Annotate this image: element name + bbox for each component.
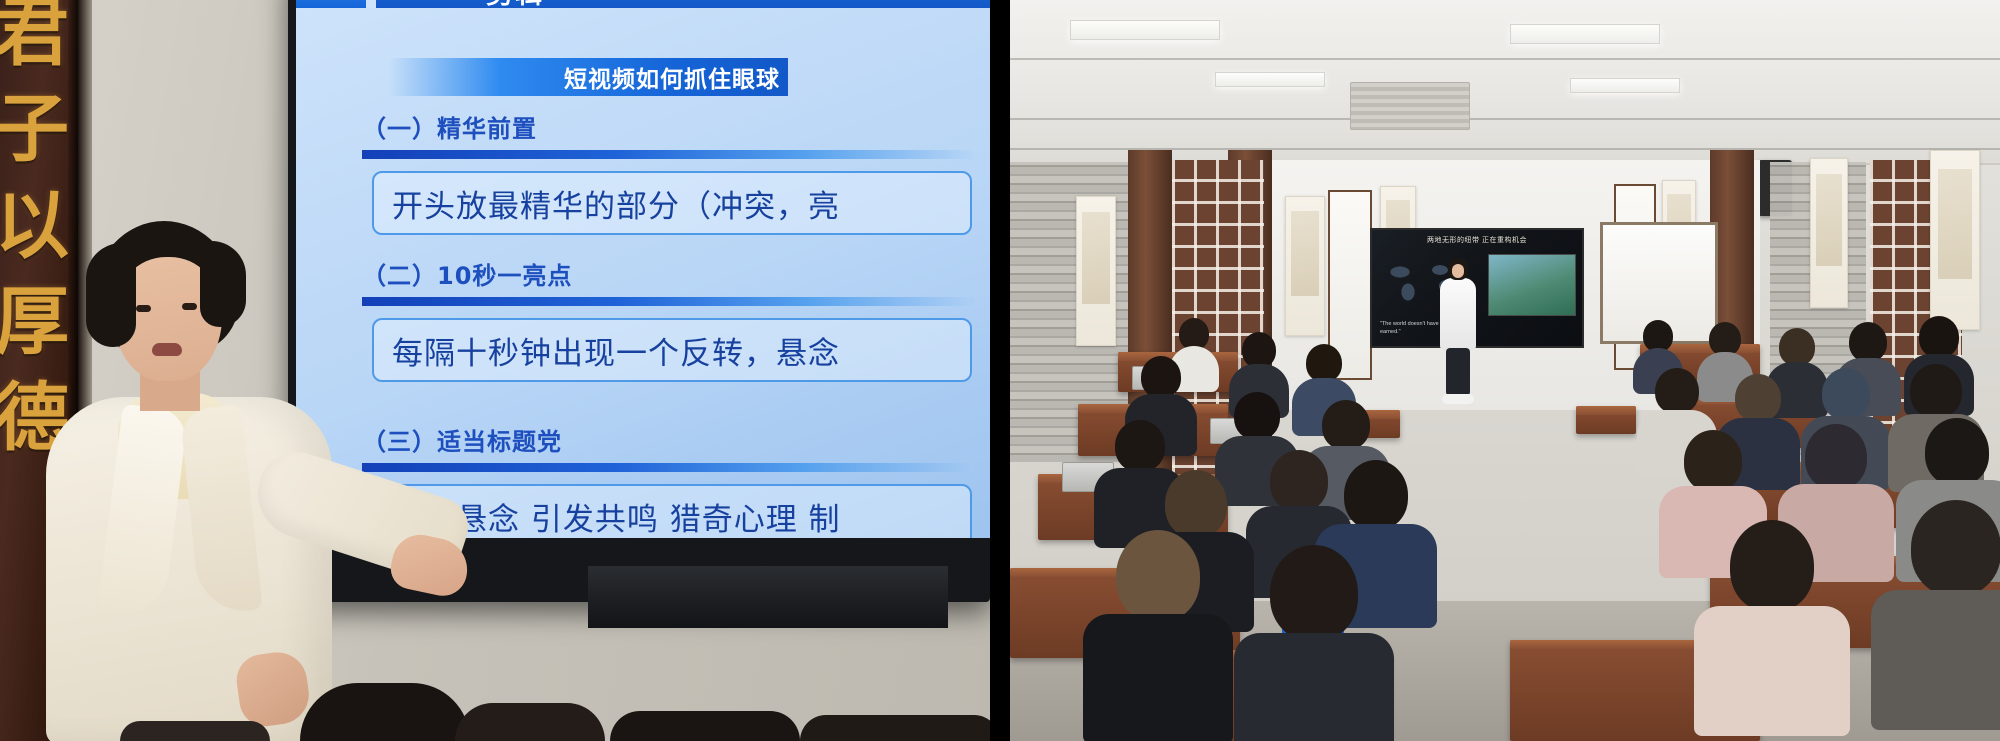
photo-composite: 君 子 以 厚 德 □ 剪辑 [0,0,2000,741]
slide-section-1: （一）精华前置 开头放最精华的部分（冲突，亮 [362,109,990,235]
student-head [1165,470,1227,538]
ceiling-light [1510,24,1660,44]
student-head [1735,374,1781,422]
student-head [1709,322,1741,356]
speaker-face [1452,264,1464,278]
foreground-head [610,711,800,741]
slide-topbar-title-area: 剪辑 [376,0,990,8]
ceiling-seam [1010,118,2000,120]
student-head [1306,344,1342,382]
ceiling-seam [1010,58,2000,60]
student-head [1849,322,1887,362]
slide-banner-text: 短视频如何抓住眼球 [564,60,780,94]
desk [1576,406,1636,434]
student-body [1083,614,1233,741]
foreground-head [800,715,990,741]
student-body [1871,590,2000,730]
student [1890,500,2000,714]
projection-photo [1488,254,1576,316]
ceiling-light [1570,78,1680,93]
section-1-rule [362,150,974,159]
hanging-scroll [1810,158,1848,308]
student-head [1242,332,1276,368]
slide-banner: 短视频如何抓住眼球 [388,58,788,96]
student-head [1684,430,1742,492]
speaker-shoes [1442,394,1474,404]
slide-topbar-title: 剪辑 [486,0,544,11]
monitor-stand [588,566,948,628]
ceiling-light [1215,72,1325,87]
app-glyph: □ [324,0,337,2]
ceiling-light [1070,20,1220,40]
hanging-scroll [1076,196,1116,346]
section-1-body: 开头放最精华的部分（冲突，亮 [392,181,840,226]
right-photo-panel: 两地无形的纽带 正在重构机会 "The world doesn't have w… [1010,0,2000,741]
slide-top-bar: □ 剪辑 [296,0,990,8]
student-head [1322,400,1370,450]
student-head [1805,424,1867,490]
speaker-jacket [1440,278,1476,350]
student-head [1822,368,1870,420]
foreground-head [455,703,605,741]
section-2-box: 每隔十秒钟出现一个反转，悬念 [372,318,972,382]
student-head [1270,545,1358,641]
section-1-heading: （一）精华前置 [362,109,990,144]
student-head [1141,356,1181,398]
student [1098,530,1218,730]
student-head [1234,392,1280,440]
student-head [1911,500,2000,596]
hanging-scroll [1285,196,1325,336]
speaker-legs [1446,348,1470,396]
student-head [1730,520,1814,612]
slide-app-icon: □ [296,0,366,8]
student [1710,520,1834,720]
presenter-figure [40,221,460,741]
student-head [1344,460,1408,530]
projection-screen: 两地无形的纽带 正在重构机会 "The world doesn't have w… [1370,228,1584,348]
section-1-box: 开头放最精华的部分（冲突，亮 [372,171,972,235]
student-head [1910,364,1962,418]
presenter-mouth [152,343,182,356]
projection-title: 两地无形的纽带 正在重构机会 [1372,235,1582,245]
presenter-eye-left [136,305,151,312]
foreground-audience-heads [0,681,990,741]
student-body [1234,633,1394,741]
ceiling-air-vent [1350,82,1470,130]
student-head [1779,328,1815,366]
front-speaker-person [1440,258,1474,406]
foreground-head [120,721,270,741]
student-head [1270,450,1328,512]
student-head [1655,368,1699,414]
presenter-hair-left [86,243,136,347]
student-head [1115,420,1165,472]
presenter-hair-right [200,241,246,327]
student-head [1116,530,1200,622]
left-photo-panel: 君 子 以 厚 德 □ 剪辑 [0,0,990,741]
panel-divider [990,0,1010,741]
hanging-scroll [1930,150,1980,330]
student-body [1694,606,1850,736]
student [1250,545,1378,741]
foreground-head [300,683,470,741]
student-head [1925,418,1989,486]
calligraphy-char-1: 君 [0,0,67,68]
topbar-gap [366,0,376,8]
student-head [1919,316,1959,358]
calligraphy-char-2: 子 [0,94,67,164]
presenter-eye-right [182,303,197,310]
